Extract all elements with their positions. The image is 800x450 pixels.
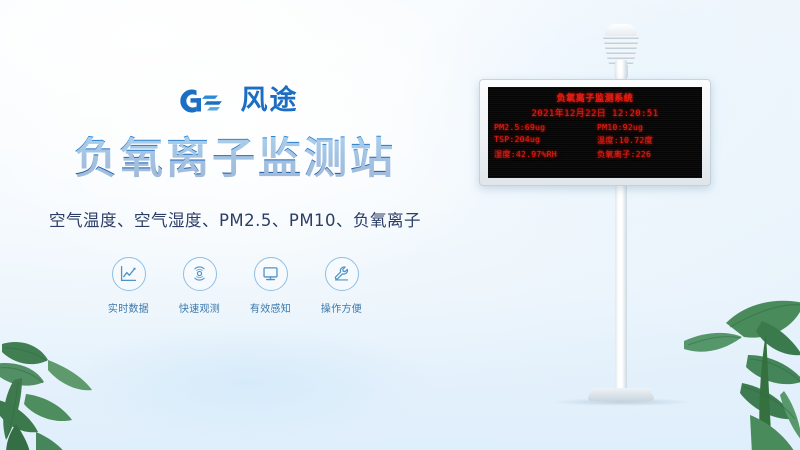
reading-tsp: TSP:204ug bbox=[494, 134, 593, 146]
display-datetime: 2021年12月22日 12:20:51 bbox=[488, 106, 702, 119]
feature-item-effective-sensing[interactable]: 有效感知 bbox=[247, 257, 295, 315]
hero-subtitle: 空气温度、空气湿度、PM2.5、PM10、负氧离子 bbox=[49, 207, 421, 231]
reading-temperature: 温度:10.72度 bbox=[597, 134, 696, 146]
reading-negative-oxygen-ion: 负氧离子:226 bbox=[597, 148, 696, 160]
feature-label: 有效感知 bbox=[250, 300, 291, 315]
brand-name: 风途 bbox=[241, 84, 299, 118]
poster-canvas: 风途 负氧离子监测站 空气温度、空气湿度、PM2.5、PM10、负氧离子 实时数… bbox=[0, 0, 800, 450]
hero-text-column: 风途 负氧离子监测站 空气温度、空气湿度、PM2.5、PM10、负氧离子 实时数… bbox=[0, 0, 470, 450]
monitor-screen-icon bbox=[254, 257, 288, 291]
radar-signal-icon bbox=[183, 257, 217, 291]
display-readings: PM2.5:69ug PM10:92ug TSP:204ug 温度:10.72度… bbox=[488, 122, 702, 160]
fengtu-wind-g-logo-icon bbox=[172, 84, 232, 118]
feature-list: 实时数据 快速观测 bbox=[105, 257, 366, 315]
reading-humidity: 湿度:42.97%RH bbox=[494, 148, 593, 160]
page-title: 负氧离子监测站 bbox=[74, 134, 396, 185]
wrench-icon bbox=[325, 257, 359, 291]
brand-logo: 风途 bbox=[172, 82, 299, 120]
feature-label: 实时数据 bbox=[108, 300, 149, 315]
led-screen: 负氧离子监测系统 2021年12月22日 12:20:51 PM2.5:69ug… bbox=[488, 87, 702, 178]
feature-label: 操作方便 bbox=[321, 300, 362, 315]
display-title: 负氧离子监测系统 bbox=[488, 91, 702, 104]
feature-item-easy-operation[interactable]: 操作方便 bbox=[318, 257, 366, 315]
led-display-panel[interactable]: 负氧离子监测系统 2021年12月22日 12:20:51 PM2.5:69ug… bbox=[479, 79, 711, 186]
line-chart-icon bbox=[112, 257, 146, 291]
reading-pm10: PM10:92ug bbox=[597, 122, 696, 132]
feature-item-realtime-data[interactable]: 实时数据 bbox=[105, 257, 153, 315]
monitoring-station-device: 负氧离子监测系统 2021年12月22日 12:20:51 PM2.5:69ug… bbox=[470, 0, 800, 450]
pole-base-plate-icon bbox=[588, 388, 654, 401]
feature-label: 快速观测 bbox=[179, 300, 220, 315]
feature-item-fast-observation[interactable]: 快速观测 bbox=[176, 257, 224, 315]
reading-pm25: PM2.5:69ug bbox=[494, 122, 593, 132]
